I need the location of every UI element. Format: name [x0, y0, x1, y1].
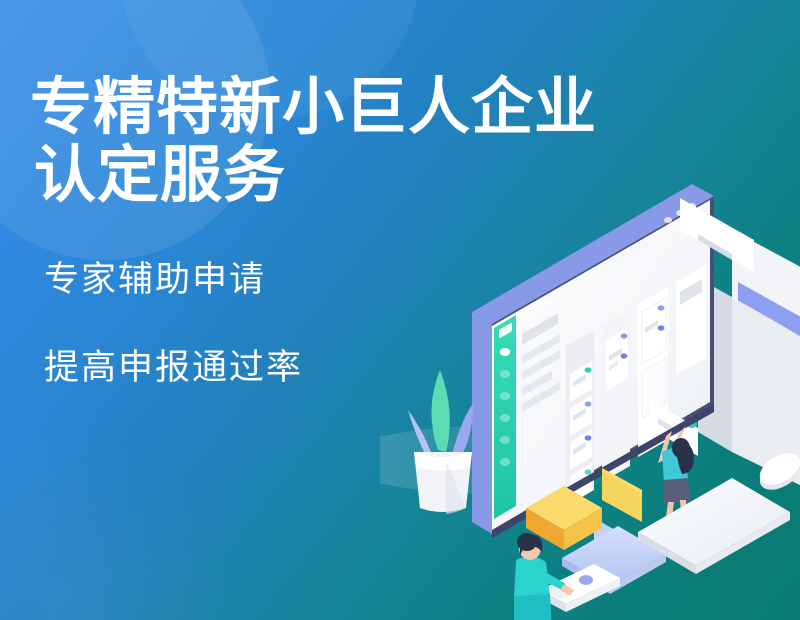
page-title-line-2: 认定服务 [34, 142, 500, 210]
kanban-column-4 [676, 265, 706, 375]
subtitle-line-2: 提高申报通过率 [44, 348, 500, 388]
subtitle-line-1: 专家辅助申请 [44, 260, 500, 300]
decorative-glow-bottom-left [0, 420, 240, 620]
headline-block: 专精特新小巨人企业 认定服务 专家辅助申请 提高申报通过率 [30, 74, 500, 388]
page-title-line-1: 专精特新小巨人企业 [30, 74, 500, 142]
promo-banner: 专精特新小巨人企业 认定服务 专家辅助申请 提高申报通过率 [0, 0, 800, 620]
